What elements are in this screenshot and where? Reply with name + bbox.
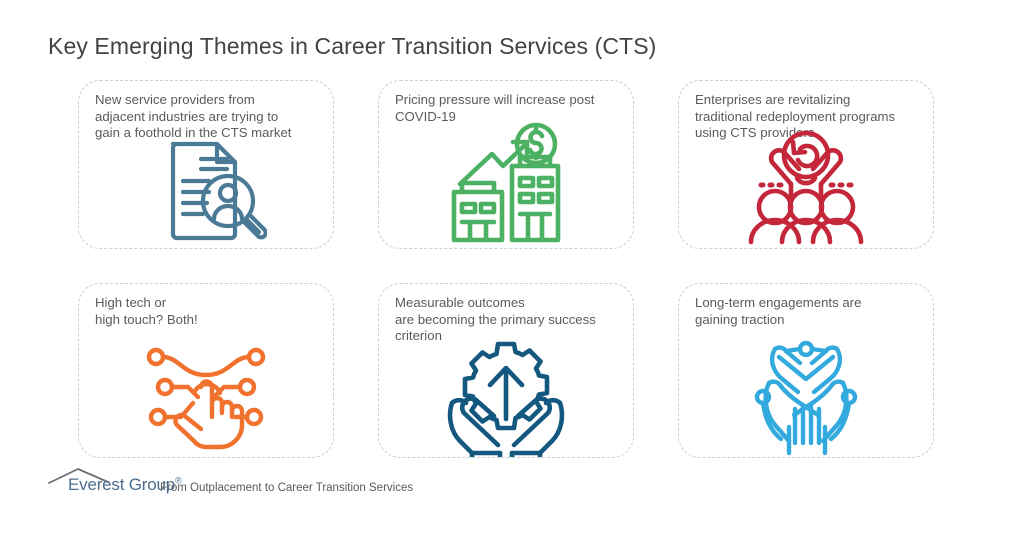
theme-card-long-term-engagements[interactable]: Long-term engagements are gaining tracti… (678, 283, 934, 458)
theme-card-text: High tech or high touch? Both! (95, 295, 323, 328)
theme-card-high-tech-high-touch[interactable]: High tech or high touch? Both! (78, 283, 334, 458)
theme-card-enterprises-revitalizing[interactable]: Enterprises are revitalizing traditional… (678, 80, 934, 249)
page-title: Key Emerging Themes in Career Transition… (48, 33, 656, 60)
everest-group-logo: Everest Group® (48, 468, 152, 496)
document-search-person-icon (79, 136, 333, 248)
theme-card-text: Long-term engagements are gaining tracti… (695, 295, 923, 328)
footer-tagline: From Outplacement to Career Transition S… (160, 482, 413, 494)
buildings-growth-dollar-icon (379, 122, 633, 246)
registered-trademark-symbol: ® (175, 475, 181, 485)
everest-group-wordmark: Everest Group® (68, 475, 181, 495)
theme-card-pricing-pressure[interactable]: Pricing pressure will increase post COVI… (378, 80, 634, 249)
theme-card-new-service-providers[interactable]: New service providers from adjacent indu… (78, 80, 334, 249)
footer: Everest Group® From Outplacement to Care… (48, 468, 413, 496)
theme-card-text: New service providers from adjacent indu… (95, 92, 323, 142)
slide-canvas: Key Emerging Themes in Career Transition… (0, 0, 1024, 536)
hands-teamwork-network-icon (679, 335, 933, 457)
hands-gear-arrow-icon (379, 335, 633, 457)
people-group-refresh-icon (679, 122, 933, 246)
theme-card-text: Pricing pressure will increase post COVI… (395, 92, 623, 125)
theme-card-measurable-outcomes[interactable]: Measurable outcomes are becoming the pri… (378, 283, 634, 458)
logo-word-text: Everest Group (68, 475, 175, 494)
hand-touch-network-icon (79, 341, 333, 453)
theme-card-grid: New service providers from adjacent indu… (78, 80, 934, 458)
